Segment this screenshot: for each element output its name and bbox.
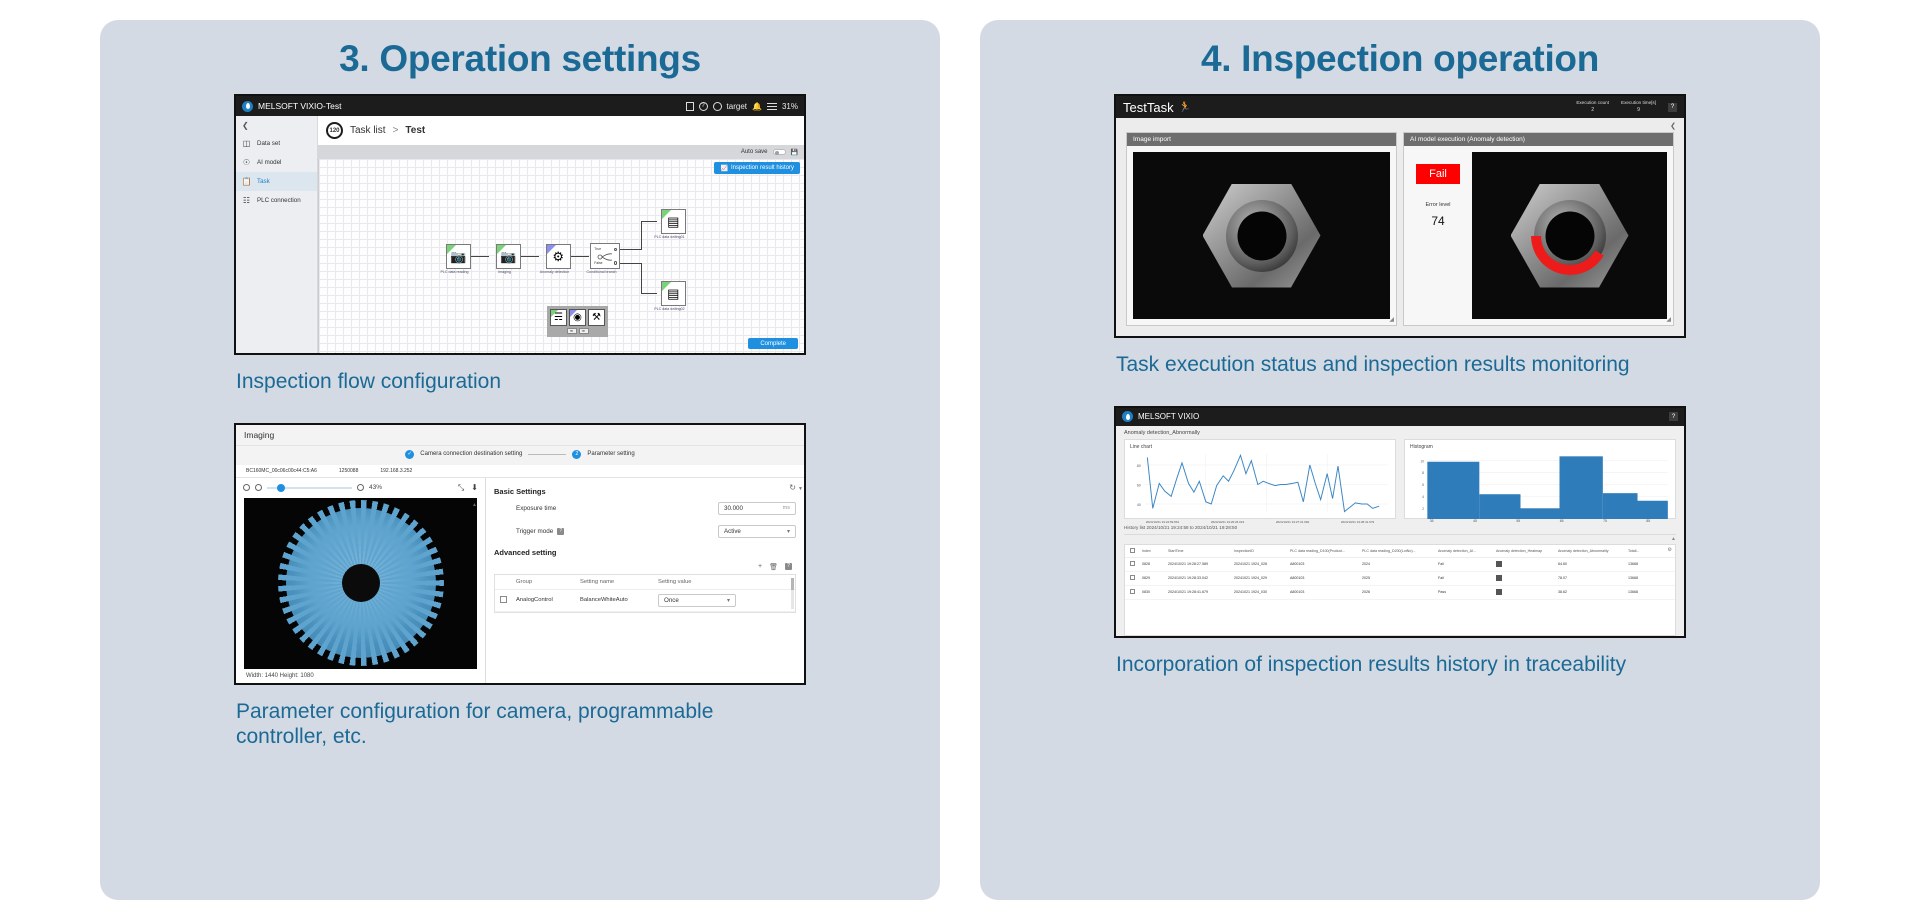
advanced-settings-table: Group Setting name Setting value AnalogC… — [494, 574, 796, 613]
cell-index: 0829 — [1139, 576, 1165, 580]
cell-inspectionid: 20241021 1924_029 — [1231, 576, 1287, 580]
zoom-level: 31% — [782, 102, 798, 111]
trigger-mode-field: Trigger mode ? Active ▾ — [494, 525, 796, 538]
wire — [641, 221, 642, 250]
svg-text:4: 4 — [1422, 495, 1424, 499]
flow-node-label: Conditional branch — [582, 270, 622, 274]
breadcrumb: 120 Task list > Test — [318, 116, 804, 145]
cell-starttime: 2024/10/21 19:28:41.679 — [1165, 590, 1231, 594]
history-list-meta: History list 2024/10/21 19:24:58 to 2024… — [1116, 519, 1684, 534]
flow-tree-tool[interactable]: ☴ — [550, 309, 567, 326]
fit-screen-icon[interactable]: ⤡ — [458, 483, 464, 493]
trigger-mode-label: Trigger mode — [516, 528, 553, 535]
task-name: TestTask — [1123, 100, 1174, 115]
cell-setting-value: Once — [664, 597, 679, 604]
zoom-out-button[interactable]: ≪ — [567, 328, 577, 334]
refresh-icon[interactable]: ↻ — [789, 483, 796, 492]
flow-node-label: PLC data writing02 — [650, 307, 690, 311]
caption-parameter-configuration: Parameter configuration for camera, prog… — [236, 699, 808, 750]
help-icon[interactable]: ? — [1668, 103, 1677, 112]
ai-model-icon: ☉ — [242, 158, 251, 167]
cell-group: AnalogControl — [516, 597, 580, 603]
bell-icon[interactable]: 🔔 — [752, 102, 762, 111]
row-checkbox[interactable] — [1130, 575, 1135, 580]
flow-node-label: PLC data writing01 — [650, 235, 690, 239]
flow-canvas[interactable]: 📈 Inspection result history — [318, 159, 804, 353]
history-subtitle: Anomaly detection_Abnormally — [1116, 426, 1684, 439]
column-header-plc-d200: PLC data reading_D200(LotNo)... — [1359, 549, 1435, 553]
settings-scrollbar[interactable]: ▼ — [798, 486, 802, 675]
sidebar: ❮ ◫ Data set ☉ AI model 📋 Task — [236, 116, 318, 353]
caption-flow-configuration: Inspection flow configuration — [236, 369, 808, 395]
history-results-table: ⚙ Index StartTime InspectionID PLC data … — [1124, 544, 1676, 636]
breadcrumb-root[interactable]: Task list — [350, 125, 386, 136]
cell-plc-d200: 2025 — [1359, 576, 1435, 580]
vixio-logo-icon — [1122, 411, 1133, 422]
flow-node-conditional-branch[interactable]: True False — [589, 243, 622, 274]
flow-node-plc-data-writing01[interactable]: ▤ PLC data writing01 — [657, 209, 690, 239]
help-icon[interactable]: ? — [785, 563, 792, 570]
cell-abnormality: 78.07 — [1555, 576, 1625, 580]
download-icon[interactable]: ⬇ — [471, 483, 478, 493]
cell-starttime: 2024/10/21 19:28:27.589 — [1165, 562, 1231, 566]
nut-photo-with-defect — [1511, 184, 1629, 288]
wire — [641, 221, 657, 222]
cell-anomaly-ai: Fail — [1435, 576, 1493, 580]
save-icon[interactable]: 💾 — [791, 149, 798, 156]
flow-toolbar: Auto save 💾 — [318, 145, 804, 159]
column-header-group: Group — [516, 579, 580, 585]
sidebar-item-task[interactable]: 📋 Task — [236, 172, 317, 191]
vixio-logo-icon — [242, 101, 253, 112]
report-icon[interactable] — [686, 102, 694, 111]
help-icon[interactable]: ? — [699, 102, 708, 111]
imported-image[interactable] — [1133, 152, 1390, 319]
sidebar-item-ai-model[interactable]: ☉ AI model — [236, 153, 317, 172]
histogram-svg: 10 8 5 4 2 — [1410, 452, 1670, 519]
traceability-app: MELSOFT VIXIO ? Anomaly detection_Abnorm… — [1114, 406, 1686, 638]
chevron-down-icon: ▾ — [727, 597, 730, 604]
cell-plc-d100: A800103 — [1287, 576, 1359, 580]
column-header-abnormality: Anomaly detection_Abnormality — [1555, 549, 1625, 553]
account-label: target — [727, 102, 747, 111]
monitor-titlebar: TestTask 🏃 Execution count 2 Execution t… — [1116, 96, 1684, 118]
heatmap-icon[interactable] — [1496, 561, 1502, 567]
panel-operation-settings: 3. Operation settings MELSOFT VIXIO-Test… — [100, 20, 940, 900]
exposure-time-label: Exposure time — [494, 505, 718, 512]
table-header-row: Index StartTime InspectionID PLC data re… — [1125, 545, 1675, 558]
autosave-toggle[interactable] — [773, 149, 786, 155]
screenshot-traceability: MELSOFT VIXIO ? Anomaly detection_Abnorm… — [1114, 406, 1686, 678]
table-scrollbar[interactable] — [791, 578, 794, 609]
step-current-icon: 2 — [572, 450, 581, 459]
row-checkbox[interactable] — [1130, 561, 1135, 566]
charts-row: Line chart — [1116, 439, 1684, 519]
column-header-setting-value: Setting value — [658, 579, 790, 585]
advanced-setting-title: Advanced setting — [494, 548, 796, 557]
trigger-mode-select[interactable]: Active ▾ — [718, 525, 796, 538]
line-chart-svg: 80 60 40 — [1130, 452, 1390, 519]
chevron-down-icon: ▾ — [787, 528, 790, 535]
panel-inspection-operation: 4. Inspection operation TestTask 🏃 Execu… — [980, 20, 1820, 900]
breadcrumb-current: Test — [405, 125, 425, 136]
camera-ip: 192.168.3.252 — [380, 468, 412, 474]
cell-anomaly-ai: Pass — [1435, 590, 1493, 594]
exposure-time-field: Exposure time 30.000 ms — [494, 502, 796, 515]
cell-inspectionid: 20241021 1924_028 — [1231, 562, 1287, 566]
histogram-card: Histogram 10 — [1404, 439, 1676, 519]
execution-count-stat: Execution count 2 — [1576, 100, 1609, 115]
cell-total: 13668 — [1625, 562, 1673, 566]
cell-plc-d200: 2024 — [1359, 562, 1435, 566]
svg-text:80: 80 — [1137, 464, 1141, 468]
camera-info-row: BC160MC_00c06c00c44:C5:A6 1250088 192.16… — [236, 465, 804, 478]
collapse-icon[interactable]: ❮ — [1670, 122, 1676, 130]
column-header-inspectionid: InspectionID — [1231, 549, 1287, 553]
card-image-import: Image import ◢ — [1126, 132, 1397, 326]
wire — [641, 293, 657, 294]
canvas-tool-palette: ☴ ◉ ⚒ ≪ ≫ — [547, 306, 608, 337]
card-title: AI model execution (Anomaly detection) — [1404, 133, 1673, 146]
trigger-mode-value: Active — [724, 528, 741, 535]
line-chart-title: Line chart — [1130, 444, 1390, 450]
screenshot-flow-editor: MELSOFT VIXIO-Test ? target 🔔 31% ❮ — [234, 94, 806, 395]
table-row[interactable]: 0829 2024/10/21 19:28:33.042 20241021 19… — [1125, 572, 1675, 586]
app-title: MELSOFT VIXIO-Test — [258, 101, 341, 111]
gear-part-photo — [286, 508, 436, 658]
table-settings-icon[interactable]: ⚙ — [1668, 547, 1672, 553]
execution-count-label: Execution count — [1576, 100, 1609, 105]
select-all-checkbox[interactable] — [1130, 548, 1135, 553]
cell-index: 0830 — [1139, 590, 1165, 594]
reset-zoom-icon[interactable] — [243, 484, 250, 491]
autosave-label: Auto save — [741, 149, 768, 155]
heatmap-icon[interactable] — [1496, 575, 1502, 581]
cell-plc-d100: A800103 — [1287, 590, 1359, 594]
zoom-slider[interactable] — [267, 487, 352, 489]
imaging-header: Imaging — [236, 425, 804, 446]
branch-icon — [597, 251, 615, 263]
cell-setting-value-select[interactable]: Once ▾ — [658, 594, 736, 607]
exposure-time-unit: ms — [783, 505, 790, 511]
caption-task-execution: Task execution status and inspection res… — [1116, 352, 1688, 378]
table-row[interactable]: AnalogControl BalanceWhiteAuto Once ▾ — [495, 590, 795, 612]
column-header-index: Index — [1139, 549, 1165, 553]
wrench-tool[interactable]: ⚒ — [588, 309, 605, 326]
line-chart-plot[interactable]: 80 60 40 — [1130, 452, 1390, 519]
screenshot-imaging-settings: Imaging ✓ Camera connection destination … — [234, 423, 806, 750]
error-level-value: 74 — [1431, 214, 1444, 228]
wire — [641, 263, 642, 293]
help-icon[interactable]: ? — [557, 528, 564, 535]
sidebar-item-data-set[interactable]: ◫ Data set — [236, 134, 317, 153]
tool-glyph: ⚒ — [592, 312, 601, 323]
step-label-parameter-setting[interactable]: Parameter setting — [587, 451, 634, 457]
image-preview-pane: 43% ⤡ ⬇ ▲ Width: 1440 Height: 1080 — [236, 478, 486, 683]
svg-text:8: 8 — [1422, 471, 1424, 475]
execution-time-value: 9 — [1621, 107, 1656, 115]
cell-inspectionid: 20241021 1924_030 — [1231, 590, 1287, 594]
card-ai-model-execution: AI model execution (Anomaly detection) F… — [1403, 132, 1674, 326]
svg-text:40: 40 — [1137, 503, 1141, 507]
step-label-camera-connection[interactable]: Camera connection destination setting — [420, 451, 522, 457]
cell-abnormality: 64.60 — [1555, 562, 1625, 566]
sidebar-item-label: AI model — [257, 159, 281, 166]
column-header-heatmap: Anomaly detection_Heatmap — [1493, 549, 1555, 553]
history-label: Inspection result history — [731, 165, 794, 171]
cell-total: 13668 — [1625, 576, 1673, 580]
step-connector — [528, 454, 566, 455]
zoom-percent: 43% — [369, 484, 382, 491]
column-header-setting-name: Setting name — [580, 579, 658, 585]
expand-icon[interactable]: ▲ — [1671, 536, 1676, 542]
imaging-settings-app: Imaging ✓ Camera connection destination … — [234, 423, 806, 685]
section-divider: ▲ — [1124, 534, 1676, 544]
wire — [619, 263, 641, 264]
flow-node-anomaly-detection[interactable]: ⚙ Anomaly detection — [542, 244, 575, 274]
zoom-slider-knob[interactable] — [277, 484, 285, 492]
add-icon[interactable]: + — [758, 563, 762, 571]
line-chart-card: Line chart — [1124, 439, 1396, 519]
exposure-time-input[interactable]: 30.000 ms — [718, 502, 796, 515]
help-icon[interactable]: ? — [1669, 412, 1678, 421]
cell-plc-d200: 2026 — [1359, 590, 1435, 594]
slide-root: 3. Operation settings MELSOFT VIXIO-Test… — [0, 0, 1920, 920]
breadcrumb-separator: > — [393, 125, 399, 136]
history-chart-icon: 📈 — [720, 165, 727, 172]
column-header-anomaly-ai: Anomaly detection_AI... — [1435, 549, 1493, 553]
task-monitor-app: TestTask 🏃 Execution count 2 Execution t… — [1114, 94, 1686, 338]
sidebar-item-label: Data set — [257, 140, 280, 147]
complete-button[interactable]: Complete — [748, 338, 798, 349]
image-dimensions-label: Width: 1440 Height: 1080 — [236, 669, 485, 683]
inspect-tool[interactable]: ◉ — [569, 309, 586, 326]
cell-total: 13668 — [1625, 590, 1673, 594]
wire — [619, 249, 641, 250]
plc-icon: ☷ — [242, 196, 251, 205]
zoom-toolbar: 43% ⤡ ⬇ — [236, 478, 485, 498]
card-resize-handle[interactable]: ◢ — [1389, 316, 1394, 323]
step-done-icon: ✓ — [405, 450, 414, 459]
column-header-starttime: StartTime — [1165, 549, 1231, 553]
table-row[interactable]: 0830 2024/10/21 19:28:41.679 20241021 19… — [1125, 586, 1675, 600]
cell-setting-name: BalanceWhiteAuto — [580, 597, 658, 603]
card-resize-handle[interactable]: ◢ — [1666, 316, 1671, 323]
cell-plc-d100: A800103 — [1287, 562, 1359, 566]
flow-node-label: Anomaly detection — [535, 270, 575, 274]
cell-anomaly-ai: Fail — [1435, 562, 1493, 566]
panel-title: 3. Operation settings — [339, 38, 701, 80]
cell-abnormality: 38.62 — [1555, 590, 1625, 594]
status-badge: Fail — [1416, 164, 1460, 184]
svg-text:60: 60 — [1137, 483, 1141, 487]
flow-node-label: Imaging — [485, 270, 525, 274]
cell-index: 0828 — [1139, 562, 1165, 566]
card-title: Image import — [1127, 133, 1396, 146]
panel-title: 4. Inspection operation — [1201, 38, 1599, 80]
zoom-out-icon[interactable] — [255, 484, 262, 491]
delete-icon[interactable]: 🗑 — [769, 563, 778, 571]
zoom-in-icon[interactable] — [357, 484, 364, 491]
histogram-plot[interactable]: 10 8 5 4 2 — [1410, 452, 1670, 519]
app-titlebar: MELSOFT VIXIO-Test ? target 🔔 31% — [236, 96, 804, 116]
clipboard-icon: 📋 — [242, 177, 251, 186]
execution-time-stat: Execution time[s] 9 — [1621, 100, 1656, 115]
svg-text:10: 10 — [1420, 459, 1424, 463]
flow-node-imaging[interactable]: 📷 Imaging — [492, 244, 525, 274]
svg-text:5: 5 — [1422, 483, 1424, 487]
column-header-total: Totall... — [1625, 549, 1673, 553]
svg-text:2: 2 — [1422, 507, 1424, 511]
sidebar-item-label: Task — [257, 178, 270, 185]
camera-preview-image[interactable]: ▲ — [244, 498, 477, 669]
app-title: MELSOFT VIXIO — [1138, 412, 1199, 421]
verdict-block: Fail Error level 74 — [1410, 152, 1466, 319]
setup-stepper: ✓ Camera connection destination setting … — [236, 446, 804, 465]
advanced-toolbar: + 🗑 ? — [494, 563, 792, 571]
cell-starttime: 2024/10/21 19:28:33.042 — [1165, 576, 1231, 580]
camera-model: BC160MC_00c06c00c44:C5:A6 — [246, 468, 317, 474]
heatmap-result-image[interactable] — [1472, 152, 1667, 319]
row-checkbox[interactable] — [1130, 589, 1135, 594]
flow-node-plc-data-reading[interactable]: 📷 PLC data reading — [442, 244, 475, 274]
execution-time-label: Execution time[s] — [1621, 100, 1656, 105]
menu-icon[interactable] — [767, 101, 777, 112]
task-avatar-icon: 120 — [326, 122, 343, 139]
running-person-icon: 🏃 — [1179, 102, 1191, 113]
vixio-flow-app: MELSOFT VIXIO-Test ? target 🔔 31% ❮ — [234, 94, 806, 355]
table-row[interactable]: 0828 2024/10/21 19:28:27.589 20241021 19… — [1125, 558, 1675, 572]
caption-traceability: Incorporation of inspection results hist… — [1116, 652, 1688, 678]
inspection-result-history-button[interactable]: 📈 Inspection result history — [714, 162, 800, 174]
nut-photo — [1203, 184, 1321, 288]
sidebar-item-plc-connection[interactable]: ☷ PLC connection — [236, 191, 317, 210]
zoom-in-button[interactable]: ≫ — [579, 328, 589, 334]
error-level-label: Error level — [1425, 202, 1450, 208]
account-icon[interactable] — [713, 102, 722, 111]
basic-settings-title: Basic Settings — [494, 487, 796, 496]
camera-serial: 1250088 — [339, 468, 358, 474]
screenshot-task-monitor: TestTask 🏃 Execution count 2 Execution t… — [1114, 94, 1686, 378]
preview-scrollbar[interactable]: ▲ — [472, 502, 476, 665]
heatmap-icon[interactable] — [1496, 589, 1502, 595]
histogram-title: Histogram — [1410, 444, 1670, 450]
app-titlebar: MELSOFT VIXIO ? — [1116, 408, 1684, 426]
table-header-row: Group Setting name Setting value — [495, 575, 795, 590]
settings-pane: ↻ Basic Settings Exposure time 30.000 ms… — [486, 478, 804, 683]
sidebar-collapse-icon[interactable]: ❮ — [236, 120, 317, 134]
flow-node-label: PLC data reading — [435, 270, 475, 274]
row-checkbox[interactable] — [500, 596, 507, 603]
flow-node-plc-data-writing02[interactable]: ▤ PLC data writing02 — [657, 281, 690, 311]
sidebar-item-label: PLC connection — [257, 197, 301, 204]
database-icon: ◫ — [242, 139, 251, 148]
column-header-plc-d100: PLC data reading_D100(Product... — [1287, 549, 1359, 553]
execution-count-value: 2 — [1576, 107, 1609, 115]
exposure-time-value: 30.000 — [724, 505, 743, 512]
